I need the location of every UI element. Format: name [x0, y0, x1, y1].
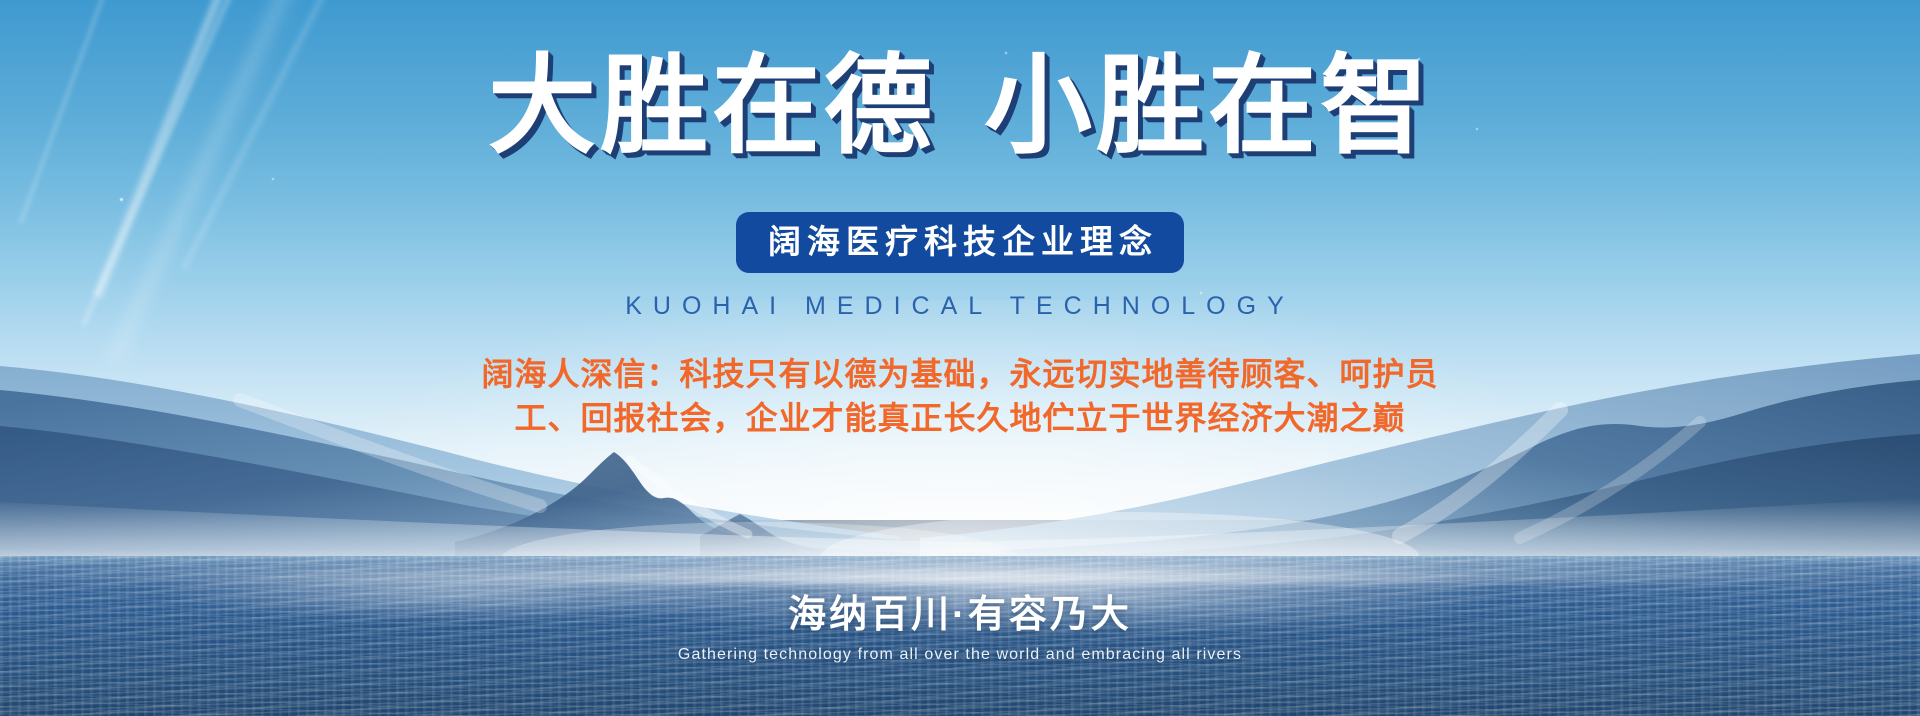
philosophy-line-2: 工、回报社会，企业才能真正长久地伫立于世界经济大潮之巅 [0, 396, 1920, 440]
english-subtitle: KUOHAI MEDICAL TECHNOLOGY [0, 292, 1920, 321]
badge-row: 阔海医疗科技企业理念 [0, 212, 1920, 273]
company-philosophy-badge: 阔海医疗科技企业理念 [736, 212, 1184, 273]
footer-slogan-chinese: 海纳百川·有容乃大 [0, 592, 1920, 640]
hero-banner: 大胜在德小胜在智 阔海医疗科技企业理念 KUOHAI MEDICAL TECHN… [0, 0, 1920, 716]
banner-content: 大胜在德小胜在智 阔海医疗科技企业理念 KUOHAI MEDICAL TECHN… [0, 0, 1920, 716]
philosophy-line-1: 阔海人深信：科技只有以德为基础，永远切实地善待顾客、呵护员 [0, 352, 1920, 396]
main-title-part2: 小胜在智 [984, 45, 1432, 166]
philosophy-statement: 阔海人深信：科技只有以德为基础，永远切实地善待顾客、呵护员 工、回报社会，企业才… [0, 352, 1920, 440]
footer-slogan-english: Gathering technology from all over the w… [0, 646, 1920, 664]
footer-slogan: 海纳百川·有容乃大 Gathering technology from all … [0, 592, 1920, 664]
main-title-part1: 大胜在德 [488, 45, 936, 166]
main-title: 大胜在德小胜在智 [0, 48, 1920, 165]
